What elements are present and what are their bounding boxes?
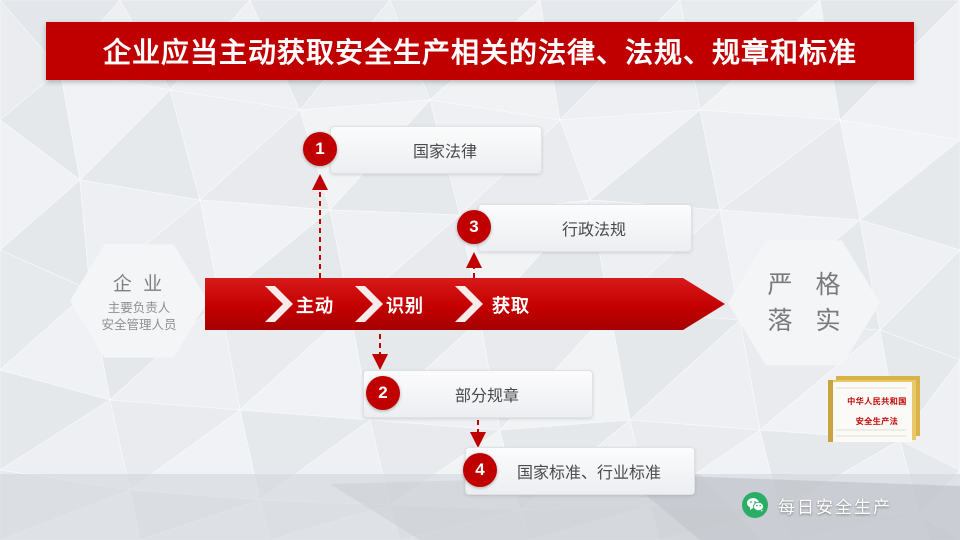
callout-1-badge: 1 <box>303 132 337 166</box>
callout-box-3[interactable]: 行政法规 <box>478 204 692 252</box>
callout-4-label: 国家标准、行业标准 <box>466 459 694 483</box>
callout-4-badge: 4 <box>463 453 497 487</box>
process-step-2-label: 识别 <box>386 292 424 318</box>
hexagon-enterprise-sub1: 主要负责人 <box>108 300 171 317</box>
callout-1-label: 国家法律 <box>331 138 541 162</box>
slide-title-bar: 企业应当主动获取安全生产相关的法律、法规、规章和标准 <box>46 22 914 80</box>
process-step-1-label: 主动 <box>296 292 334 318</box>
callout-3-label: 行政法规 <box>479 216 691 240</box>
callout-2-badge: 2 <box>366 376 400 410</box>
law-book-graphic: 中华人民共和国 安全生产法 <box>828 372 924 444</box>
callout-box-4[interactable]: 国家标准、行业标准 <box>465 447 695 495</box>
slide-canvas: 企业应当主动获取安全生产相关的法律、法规、规章和标准 企 业 主要负责人 安全管… <box>0 0 960 540</box>
process-chevron-band <box>205 278 725 330</box>
wechat-account-label: 每日安全生产 <box>778 493 892 518</box>
wechat-icon <box>742 492 768 518</box>
page-title: 企业应当主动获取安全生产相关的法律、法规、规章和标准 <box>103 31 857 71</box>
process-step-3-label: 获取 <box>492 292 530 318</box>
wechat-account-footer: 每日安全生产 <box>742 492 892 518</box>
law-book-line1: 中华人民共和国 <box>840 396 914 407</box>
callout-box-1[interactable]: 国家法律 <box>330 126 542 174</box>
hexagon-enterprise-sub2: 安全管理人员 <box>101 317 176 334</box>
hexagon-enterprise-title: 企 业 <box>113 269 165 296</box>
hexagon-implement-line1: 严 格 <box>760 267 849 303</box>
law-book-line2: 安全生产法 <box>840 416 914 427</box>
callout-3-badge: 3 <box>457 210 491 244</box>
hexagon-implement-line2: 落 实 <box>760 303 849 339</box>
